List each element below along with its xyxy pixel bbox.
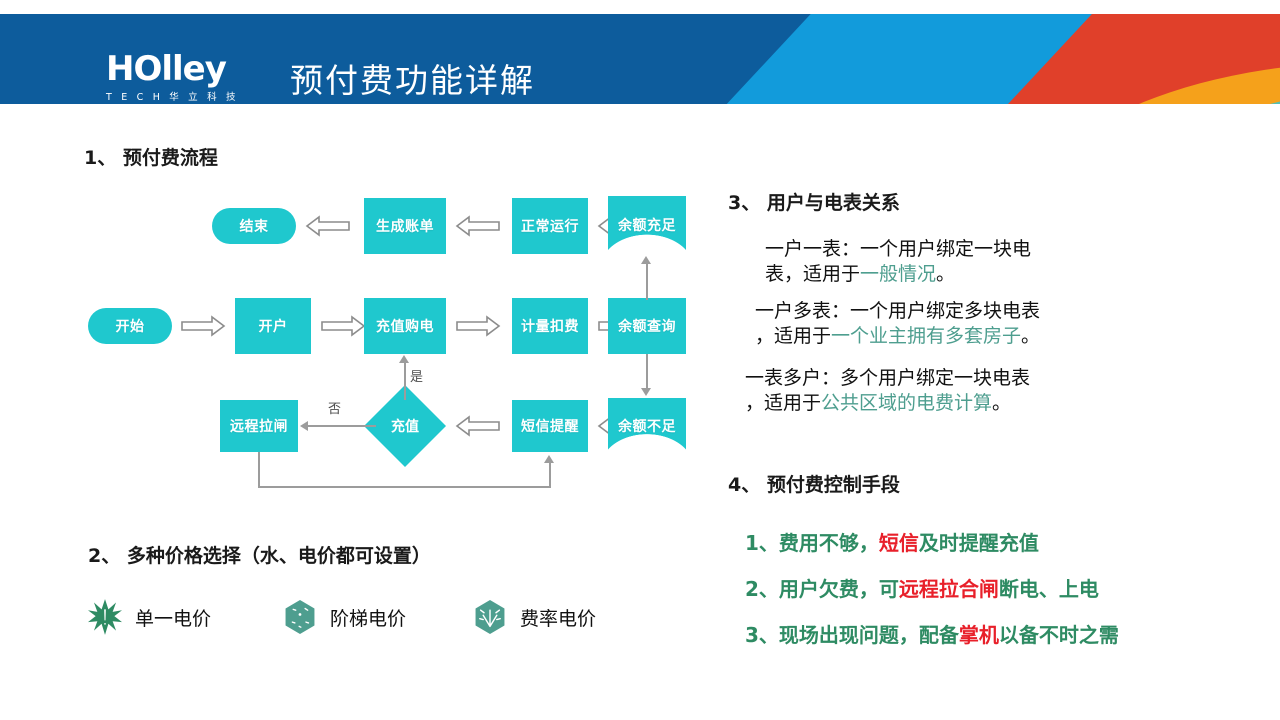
control-3-post: 以备不时之需 [999, 623, 1119, 647]
control-item-1: 1、费用不够，短信及时提醒充值 [745, 527, 1039, 556]
feedback-line-up [549, 462, 551, 488]
connector-query-to-ok [646, 262, 648, 300]
prepaid-flowchart: 结束 生成账单 正常运行 余额充足 开始 开户 充值购电 计量扣费 余额查询 远… [80, 180, 700, 500]
company-logo: HOlley T E C H 华 立 科 技 [106, 52, 266, 102]
flow-node-balance-query[interactable]: 余额查询 [608, 298, 686, 354]
relation-item-3: 一表多户：多个用户绑定一块电表 ，适用于公共区域的电费计算。 [745, 366, 1140, 417]
price-option-rate[interactable]: 费率电价 [473, 598, 596, 636]
relation-3-highlight: 公共区域的电费计算 [821, 392, 992, 414]
control-item-3: 3、现场出现问题，配备掌机以备不时之需 [745, 619, 1119, 648]
starburst-icon [88, 598, 122, 636]
flow-node-start[interactable]: 开始 [88, 308, 172, 344]
control-3-number: 3、 [745, 623, 779, 647]
control-2-post: 断电、上电 [999, 577, 1099, 601]
relation-item-2: 一户多表：一个用户绑定多块电表 ，适用于一个业主拥有多套房子。 [755, 299, 1140, 350]
arrow-right-1 [180, 314, 226, 338]
control-1-number: 1、 [745, 531, 779, 555]
flow-node-balance-insufficient[interactable]: 余额不足 [608, 398, 686, 454]
connector-query-to-ok-tip [641, 256, 651, 264]
flow-node-end[interactable]: 结束 [212, 208, 296, 244]
feedback-line-down [258, 452, 260, 488]
control-2-number: 2、 [745, 577, 779, 601]
relation-2-lead2: ，适用于 [755, 325, 831, 347]
arrow-left-2 [455, 214, 501, 238]
relation-1-highlight: 一般情况 [860, 263, 936, 285]
connector-no-tip [300, 421, 308, 431]
control-item-2: 2、用户欠费，可远程拉合闸断电、上电 [745, 573, 1099, 602]
hexagon-gem-icon [283, 598, 317, 636]
flow-node-open-account[interactable]: 开户 [235, 298, 311, 354]
connector-yes-up [404, 362, 406, 400]
price-option-single[interactable]: 单一电价 [88, 598, 211, 636]
control-1-highlight: 短信 [879, 531, 919, 555]
control-1-pre: 费用不够， [779, 531, 879, 555]
relation-2-lead: 一户多表：一个用户绑定多块电表 [755, 300, 1040, 322]
relation-3-tail: 。 [992, 392, 1011, 414]
section-2-heading: 2、 多种价格选择（水、电价都可设置） [88, 541, 431, 568]
relation-1-lead: 一户一表：一个用户绑定一块电 [765, 238, 1031, 260]
relation-3-lead2: ，适用于 [745, 392, 821, 414]
relation-item-1: 一户一表：一个用户绑定一块电 表，适用于一般情况。 [765, 237, 1125, 288]
feedback-line-tip [544, 455, 554, 463]
flow-node-balance-sufficient[interactable]: 余额充足 [608, 196, 686, 254]
flow-node-sms-remind[interactable]: 短信提醒 [512, 400, 588, 452]
page-title: 预付费功能详解 [290, 54, 535, 102]
relation-3-lead: 一表多户：多个用户绑定一块电表 [745, 367, 1030, 389]
label-no: 否 [328, 398, 341, 417]
connector-query-to-low-tip [641, 388, 651, 396]
relation-1-tail: 。 [936, 263, 955, 285]
flow-node-recharge-buy-power[interactable]: 充值购电 [364, 298, 446, 354]
control-2-pre: 用户欠费，可 [779, 577, 899, 601]
price-option-rate-label: 费率电价 [520, 604, 596, 631]
logo-wordmark: HOlley [106, 52, 266, 86]
connector-yes-tip [399, 355, 409, 363]
flow-node-generate-bill[interactable]: 生成账单 [364, 198, 446, 254]
connector-query-to-low [646, 354, 648, 390]
control-1-post: 及时提醒充值 [919, 531, 1039, 555]
flow-node-metering-deduct[interactable]: 计量扣费 [512, 298, 588, 354]
control-3-pre: 现场出现问题，配备 [779, 623, 959, 647]
price-option-tiered-label: 阶梯电价 [330, 604, 406, 631]
section-1-heading: 1、 预付费流程 [84, 143, 218, 170]
arrow-left-1 [305, 214, 351, 238]
flow-node-recharge-label: 充值 [376, 397, 434, 455]
relation-2-highlight: 一个业主拥有多套房子 [831, 325, 1021, 347]
feedback-line-across [258, 486, 550, 488]
flow-node-remote-trip[interactable]: 远程拉闸 [220, 400, 298, 452]
flow-node-normal-run[interactable]: 正常运行 [512, 198, 588, 254]
logo-subtitle: T E C H 华 立 科 技 [106, 89, 266, 103]
arrow-left-4 [455, 414, 501, 438]
relation-1-lead2: 表，适用于 [765, 263, 860, 285]
section-3-heading: 3、 用户与电表关系 [728, 188, 900, 215]
control-2-highlight: 远程拉合闸 [899, 577, 999, 601]
section-4-heading: 4、 预付费控制手段 [728, 470, 900, 497]
control-3-highlight: 掌机 [959, 623, 999, 647]
price-option-single-label: 单一电价 [135, 604, 211, 631]
connector-no-left [308, 425, 376, 427]
arrow-right-3 [455, 314, 501, 338]
price-option-tiered[interactable]: 阶梯电价 [283, 598, 406, 636]
page-header: HOlley T E C H 华 立 科 技 预付费功能详解 [0, 14, 1280, 104]
label-yes: 是 [410, 366, 423, 385]
hexagon-rate-icon [473, 598, 507, 636]
arrow-right-2 [320, 314, 366, 338]
relation-2-tail: 。 [1021, 325, 1040, 347]
